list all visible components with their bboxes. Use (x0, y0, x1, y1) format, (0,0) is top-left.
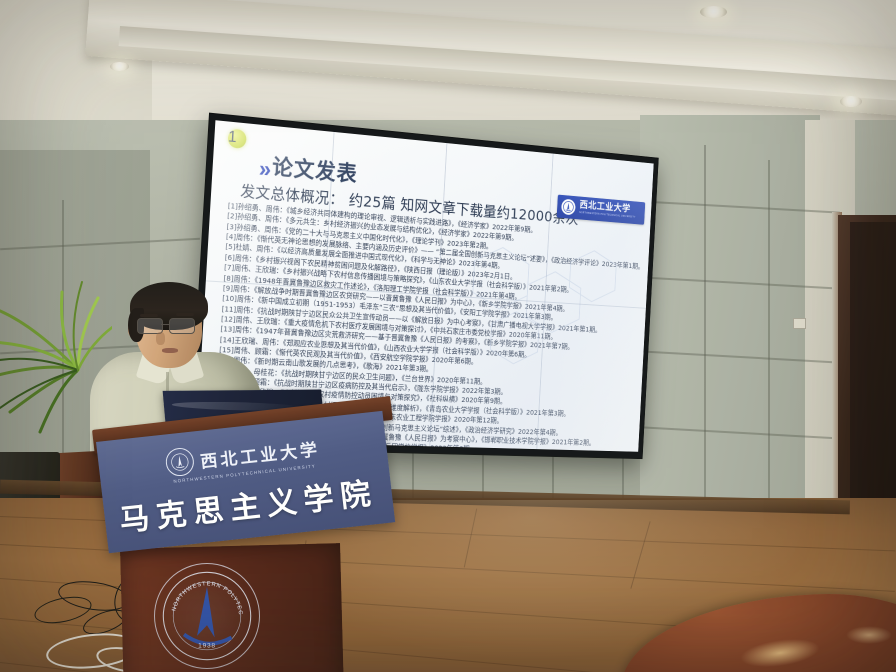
conference-room-photo: 1 西北工业大学 NORTHWESTERN POLYTECHNICAL UNIV… (0, 0, 896, 672)
potted-palm-plant (0, 252, 112, 442)
nose (156, 332, 165, 345)
svg-text:NORTHWESTERN POLYTECHNICAL UNI: NORTHWESTERN POLYTECHNICAL UNIVERSITY (161, 570, 243, 616)
eyeglasses-icon (137, 318, 201, 333)
downlight-5 (700, 6, 727, 18)
banner-seal-icon (164, 447, 195, 478)
downlight-1 (110, 62, 129, 71)
svg-text:1938: 1938 (198, 642, 216, 649)
double-chevron-icon: » (258, 158, 268, 180)
doorway-opening[interactable] (850, 222, 896, 540)
university-seal-icon: NORTHWESTERN POLYTECHNICAL UNIVERSITY 19… (161, 570, 253, 662)
downlight-6 (840, 96, 862, 107)
wall-switch-plate[interactable] (793, 318, 806, 329)
wall-seam (768, 160, 770, 510)
lectern: NORTHWESTERN POLYTECHNICAL UNIVERSITY 19… (96, 438, 396, 672)
mouth (162, 348, 178, 353)
glasses-bridge (161, 324, 169, 325)
right-wall (640, 115, 820, 545)
eyebrow-left (140, 314, 158, 317)
hexagon-watermark-icon (461, 236, 635, 384)
university-seal-icon (561, 199, 576, 216)
lectern-university-seal: NORTHWESTERN POLYTECHNICAL UNIVERSITY 19… (154, 563, 260, 669)
lens-right (169, 318, 195, 334)
wall-seam (704, 145, 706, 505)
table-highlight (846, 626, 892, 644)
eyebrow-right (176, 313, 194, 316)
slide-number-badge: 1 (227, 128, 246, 149)
logo-text-block: 西北工业大学 NORTHWESTERN POLYTECHNICAL UNIVER… (579, 202, 636, 220)
